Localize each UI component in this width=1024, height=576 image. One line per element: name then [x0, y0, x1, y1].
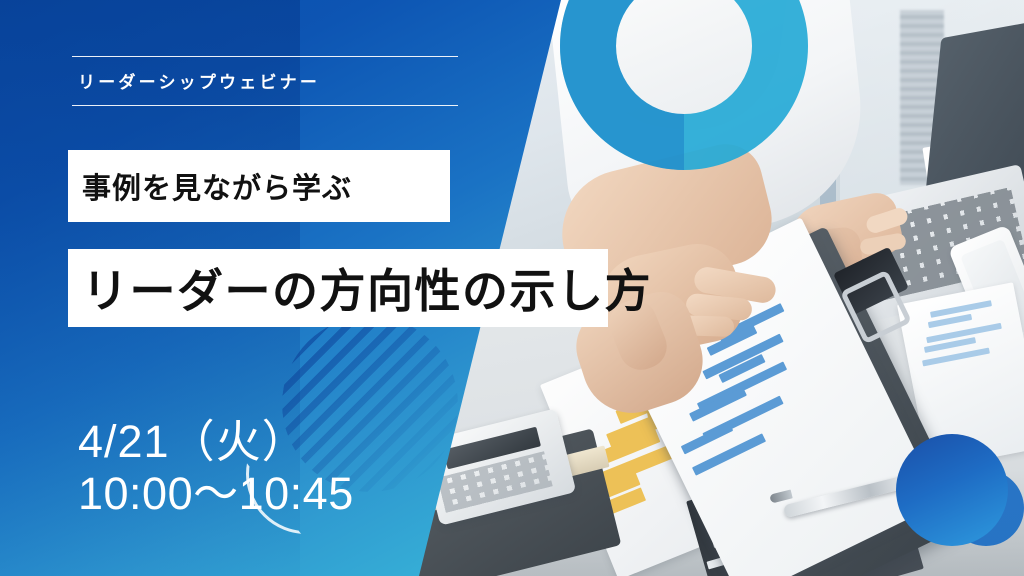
ring-bottom-right-icon	[896, 434, 1008, 546]
subtitle-box: 事例を見ながら学ぶ	[68, 150, 450, 222]
page-title: リーダーの方向性の示し方	[68, 255, 652, 321]
webinar-banner: リーダーシップウェビナー 事例を見ながら学ぶ リーダーの方向性の示し方 4/21…	[0, 0, 1024, 576]
event-date: 4/21（火）	[78, 416, 354, 468]
rule-bottom	[72, 105, 458, 106]
title-box: リーダーの方向性の示し方	[68, 249, 608, 327]
eyebrow-block: リーダーシップウェビナー	[72, 56, 458, 106]
eyebrow-label: リーダーシップウェビナー	[72, 57, 458, 105]
subtitle-text: 事例を見ながら学ぶ	[68, 165, 352, 207]
event-time: 10:00〜10:45	[78, 468, 354, 520]
schedule-block: 4/21（火） 10:00〜10:45	[78, 416, 354, 520]
